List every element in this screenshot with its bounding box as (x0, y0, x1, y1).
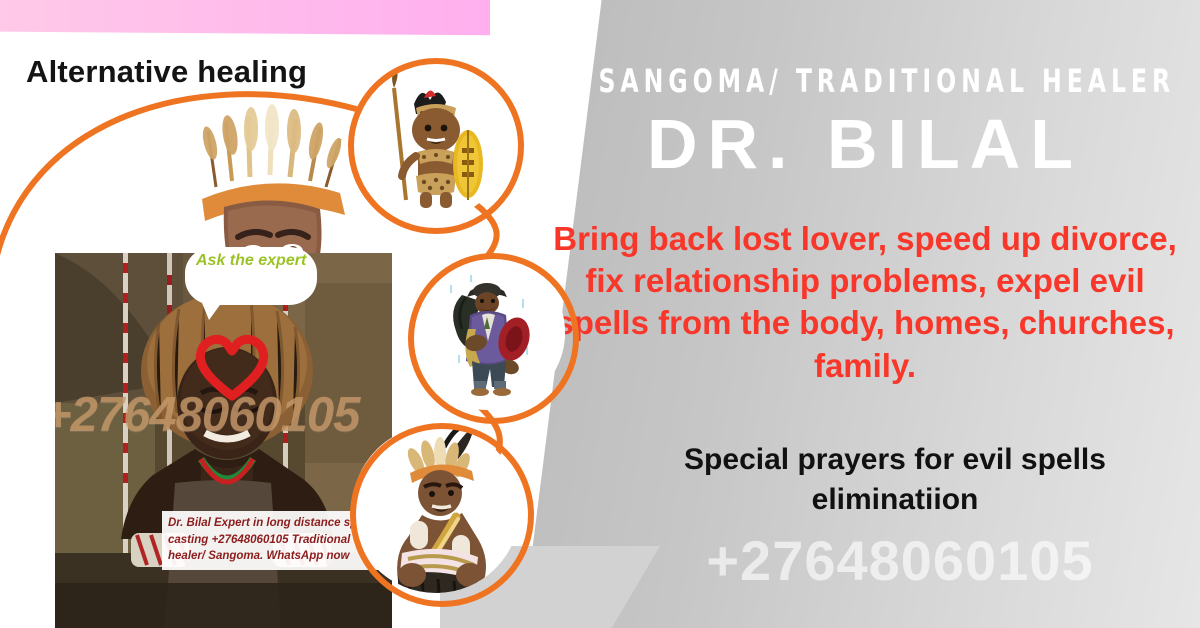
speech-bubble-text: Ask the expert (196, 252, 314, 271)
alternative-healing-heading: Alternative healing (26, 54, 307, 90)
kicker-text: SANGOMA/ TRADITIONAL HEALER (599, 62, 1132, 100)
special-offer-text: Special prayers for evil spells eliminat… (600, 440, 1190, 519)
circle-ring-three (350, 423, 534, 607)
circle-ring-one (348, 58, 524, 234)
poster-canvas: Alternative healing (0, 0, 1200, 628)
phone-watermark: +27648060105 (600, 528, 1200, 593)
services-text: Bring back lost lover, speed up divorce,… (545, 218, 1185, 387)
circle-ring-two (408, 253, 579, 424)
heart-outline-icon (193, 330, 271, 402)
speech-bubble-tail (200, 298, 225, 320)
healer-name: DR. BILAL (540, 108, 1190, 182)
